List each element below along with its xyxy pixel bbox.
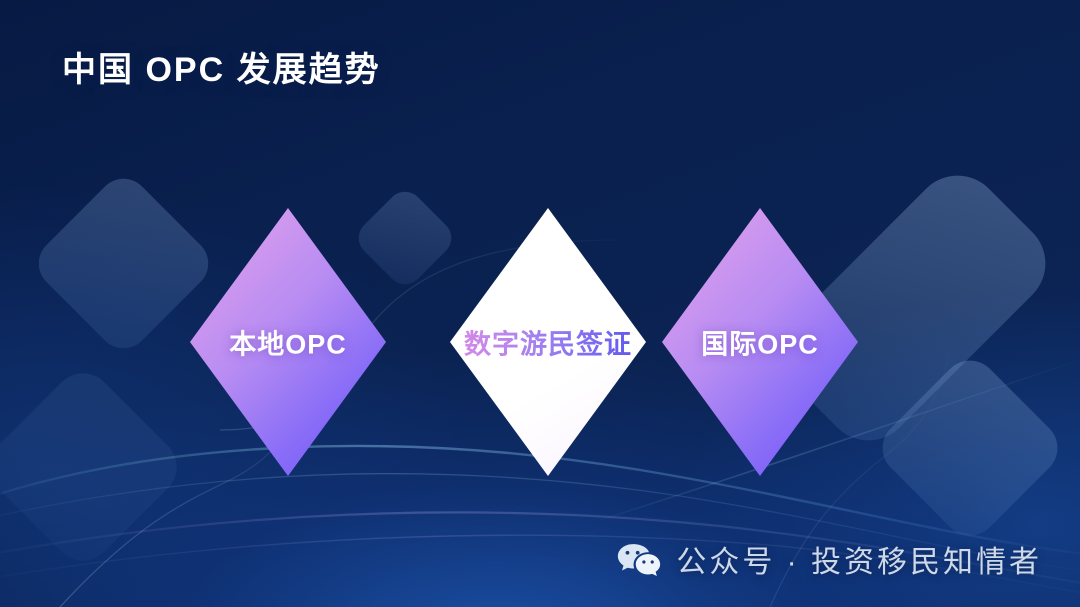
diamond-local-opc[interactable]: 本地OPC xyxy=(190,208,386,476)
slide-canvas: 中国 OPC 发展趋势 本地OPC 数字游民签证 国际OPC 公众号 · 投资移 xyxy=(0,0,1080,607)
diamond-digital-nomad-visa[interactable]: 数字游民签证 xyxy=(450,208,646,476)
diamond-label: 国际OPC xyxy=(662,323,858,362)
diamond-international-opc[interactable]: 国际OPC xyxy=(662,208,858,476)
wechat-icon xyxy=(616,542,662,576)
diamond-row: 本地OPC 数字游民签证 国际OPC xyxy=(0,0,1080,607)
watermark-text: 公众号 · 投资移民知情者 xyxy=(676,537,1042,581)
diamond-label: 本地OPC xyxy=(190,323,386,362)
watermark-footer: 公众号 · 投资移民知情者 xyxy=(616,537,1042,581)
diamond-label: 数字游民签证 xyxy=(450,323,646,362)
